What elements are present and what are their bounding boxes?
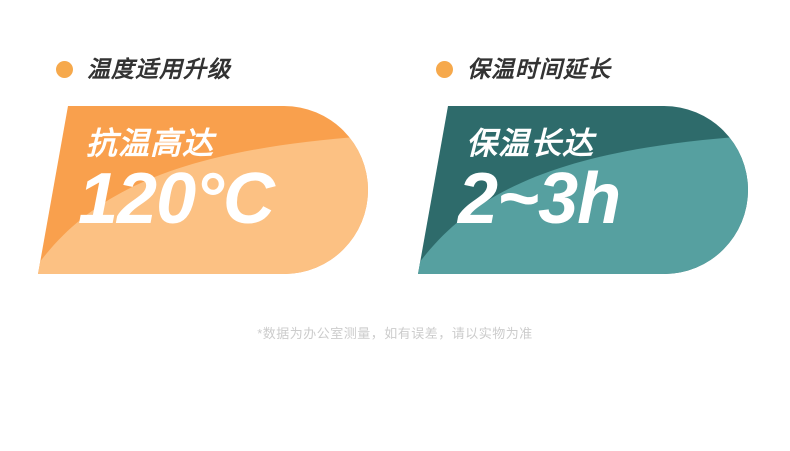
bullet-dot-icon	[436, 61, 453, 78]
feature-column-retention: 保温时间延长 保温长达 2~3h	[395, 0, 790, 300]
card-background-shape-orange	[38, 106, 368, 274]
feature-column-temperature: 温度适用升级 抗温高达 120°C	[0, 0, 395, 300]
feature-card-retention: 保温长达 2~3h	[418, 106, 748, 274]
bullet-dot-icon	[56, 61, 73, 78]
card-background-shape-teal	[418, 106, 748, 274]
section-heading-label: 保温时间延长	[467, 58, 611, 81]
section-heading-label: 温度适用升级	[87, 58, 231, 81]
section-heading-retention: 保温时间延长	[436, 53, 611, 85]
feature-highlight-page: 温度适用升级 抗温高达 120°C	[0, 0, 790, 451]
feature-columns: 温度适用升级 抗温高达 120°C	[0, 0, 790, 300]
section-heading-temperature: 温度适用升级	[56, 53, 231, 85]
feature-card-temperature: 抗温高达 120°C	[38, 106, 368, 274]
footnote-disclaimer: *数据为办公室测量，如有误差，请以实物为准	[0, 325, 790, 343]
